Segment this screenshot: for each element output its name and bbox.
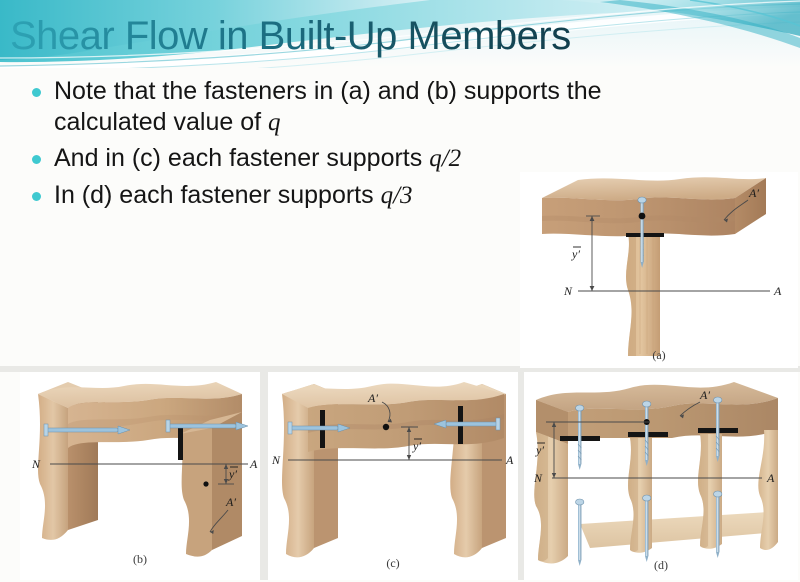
figure-b-label-Aprime: A′	[225, 495, 236, 509]
figure-d-label-ybar: y′	[535, 443, 544, 457]
figure-d-drawing: y′ N A A′	[524, 372, 798, 580]
bullet-3-math: q/	[381, 182, 400, 209]
bullet-1-line2: calculated value of	[54, 108, 268, 136]
figure-c-label-ybar: y′	[412, 439, 421, 453]
figure-b-label-N: N	[31, 457, 41, 471]
figure-b-caption: (b)	[20, 552, 260, 567]
panel-separator	[260, 372, 268, 580]
figure-b: N A y′ A′ (b)	[20, 372, 260, 580]
page-title: Shear Flow in Built-Up Members	[10, 14, 571, 59]
slide-root: Shear Flow in Built-Up Members Note that…	[0, 0, 800, 582]
figure-c-caption: (c)	[268, 556, 518, 571]
figure-c-label-A: A	[505, 453, 514, 467]
figure-d-label-N: N	[533, 471, 543, 485]
figure-a-label-A: A	[773, 284, 782, 298]
figure-c: A′ y′ N A (c)	[268, 372, 518, 580]
figure-d: y′ N A A′ (d)	[524, 372, 798, 580]
bullet-2-math-num: 2	[449, 145, 462, 172]
figure-b-label-A: A	[249, 457, 258, 471]
list-item: And in (c) each fastener supports q/2	[24, 143, 784, 175]
figure-b-label-ybar: y′	[228, 467, 237, 481]
figure-a-drawing: N A y′ A′	[520, 172, 798, 368]
list-item: Note that the fasteners in (a) and (b) s…	[24, 76, 784, 138]
bullet-1-math: q	[268, 109, 281, 136]
figure-d-caption: (d)	[524, 558, 798, 573]
bullet-dot-icon	[32, 192, 41, 201]
figure-a-label-Aprime: A′	[748, 186, 759, 200]
bullet-2-line1: And in (c) each fastener supports	[54, 144, 429, 172]
bullet-dot-icon	[32, 88, 41, 97]
bullet-dot-icon	[32, 155, 41, 164]
bullet-2-math: q/	[429, 145, 448, 172]
figure-b-drawing: N A y′ A′	[20, 372, 260, 580]
bullet-3-math-num: 3	[400, 182, 413, 209]
figure-c-label-N: N	[271, 453, 281, 467]
figure-a-label-ybar: y′	[571, 247, 580, 261]
figure-a-label-N: N	[563, 284, 573, 298]
bullet-3-line1: In (d) each fastener supports	[54, 181, 381, 209]
figure-d-label-Aprime: A′	[699, 388, 710, 402]
figure-d-label-A: A	[766, 471, 775, 485]
figure-c-drawing: A′ y′ N A	[268, 372, 518, 580]
figure-a-caption: (a)	[520, 348, 798, 363]
slide-header: Shear Flow in Built-Up Members	[0, 0, 800, 68]
figure-a: N A y′ A′ (a)	[520, 172, 798, 368]
bullet-1-line1: Note that the fasteners in (a) and (b) s…	[54, 77, 602, 105]
figure-c-label-Aprime: A′	[367, 391, 378, 405]
